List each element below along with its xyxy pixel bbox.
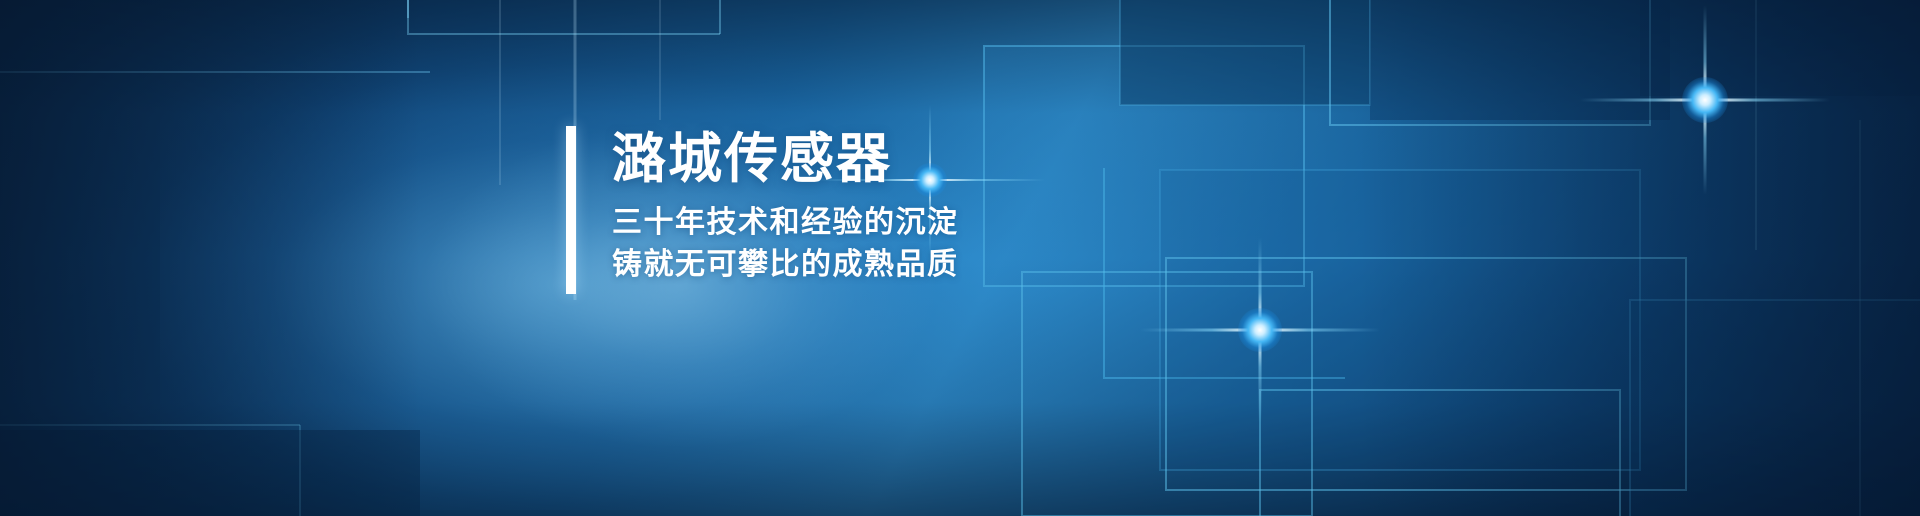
hero-banner: 潞城传感器 三十年技术和经验的沉淀 铸就无可攀比的成熟品质 bbox=[0, 0, 1920, 516]
banner-text-block: 潞城传感器 三十年技术和经验的沉淀 铸就无可攀比的成熟品质 bbox=[566, 126, 959, 294]
background-right-shade bbox=[1360, 0, 1920, 516]
background-left-shade bbox=[0, 0, 420, 516]
banner-text-column: 潞城传感器 三十年技术和经验的沉淀 铸就无可攀比的成熟品质 bbox=[612, 126, 959, 294]
banner-subtitle-line-1: 三十年技术和经验的沉淀 bbox=[612, 202, 959, 244]
accent-bar bbox=[566, 126, 576, 294]
banner-subtitle-group: 三十年技术和经验的沉淀 铸就无可攀比的成熟品质 bbox=[612, 202, 959, 286]
banner-headline: 潞城传感器 bbox=[612, 128, 959, 190]
banner-subtitle-line-2: 铸就无可攀比的成熟品质 bbox=[612, 244, 959, 286]
